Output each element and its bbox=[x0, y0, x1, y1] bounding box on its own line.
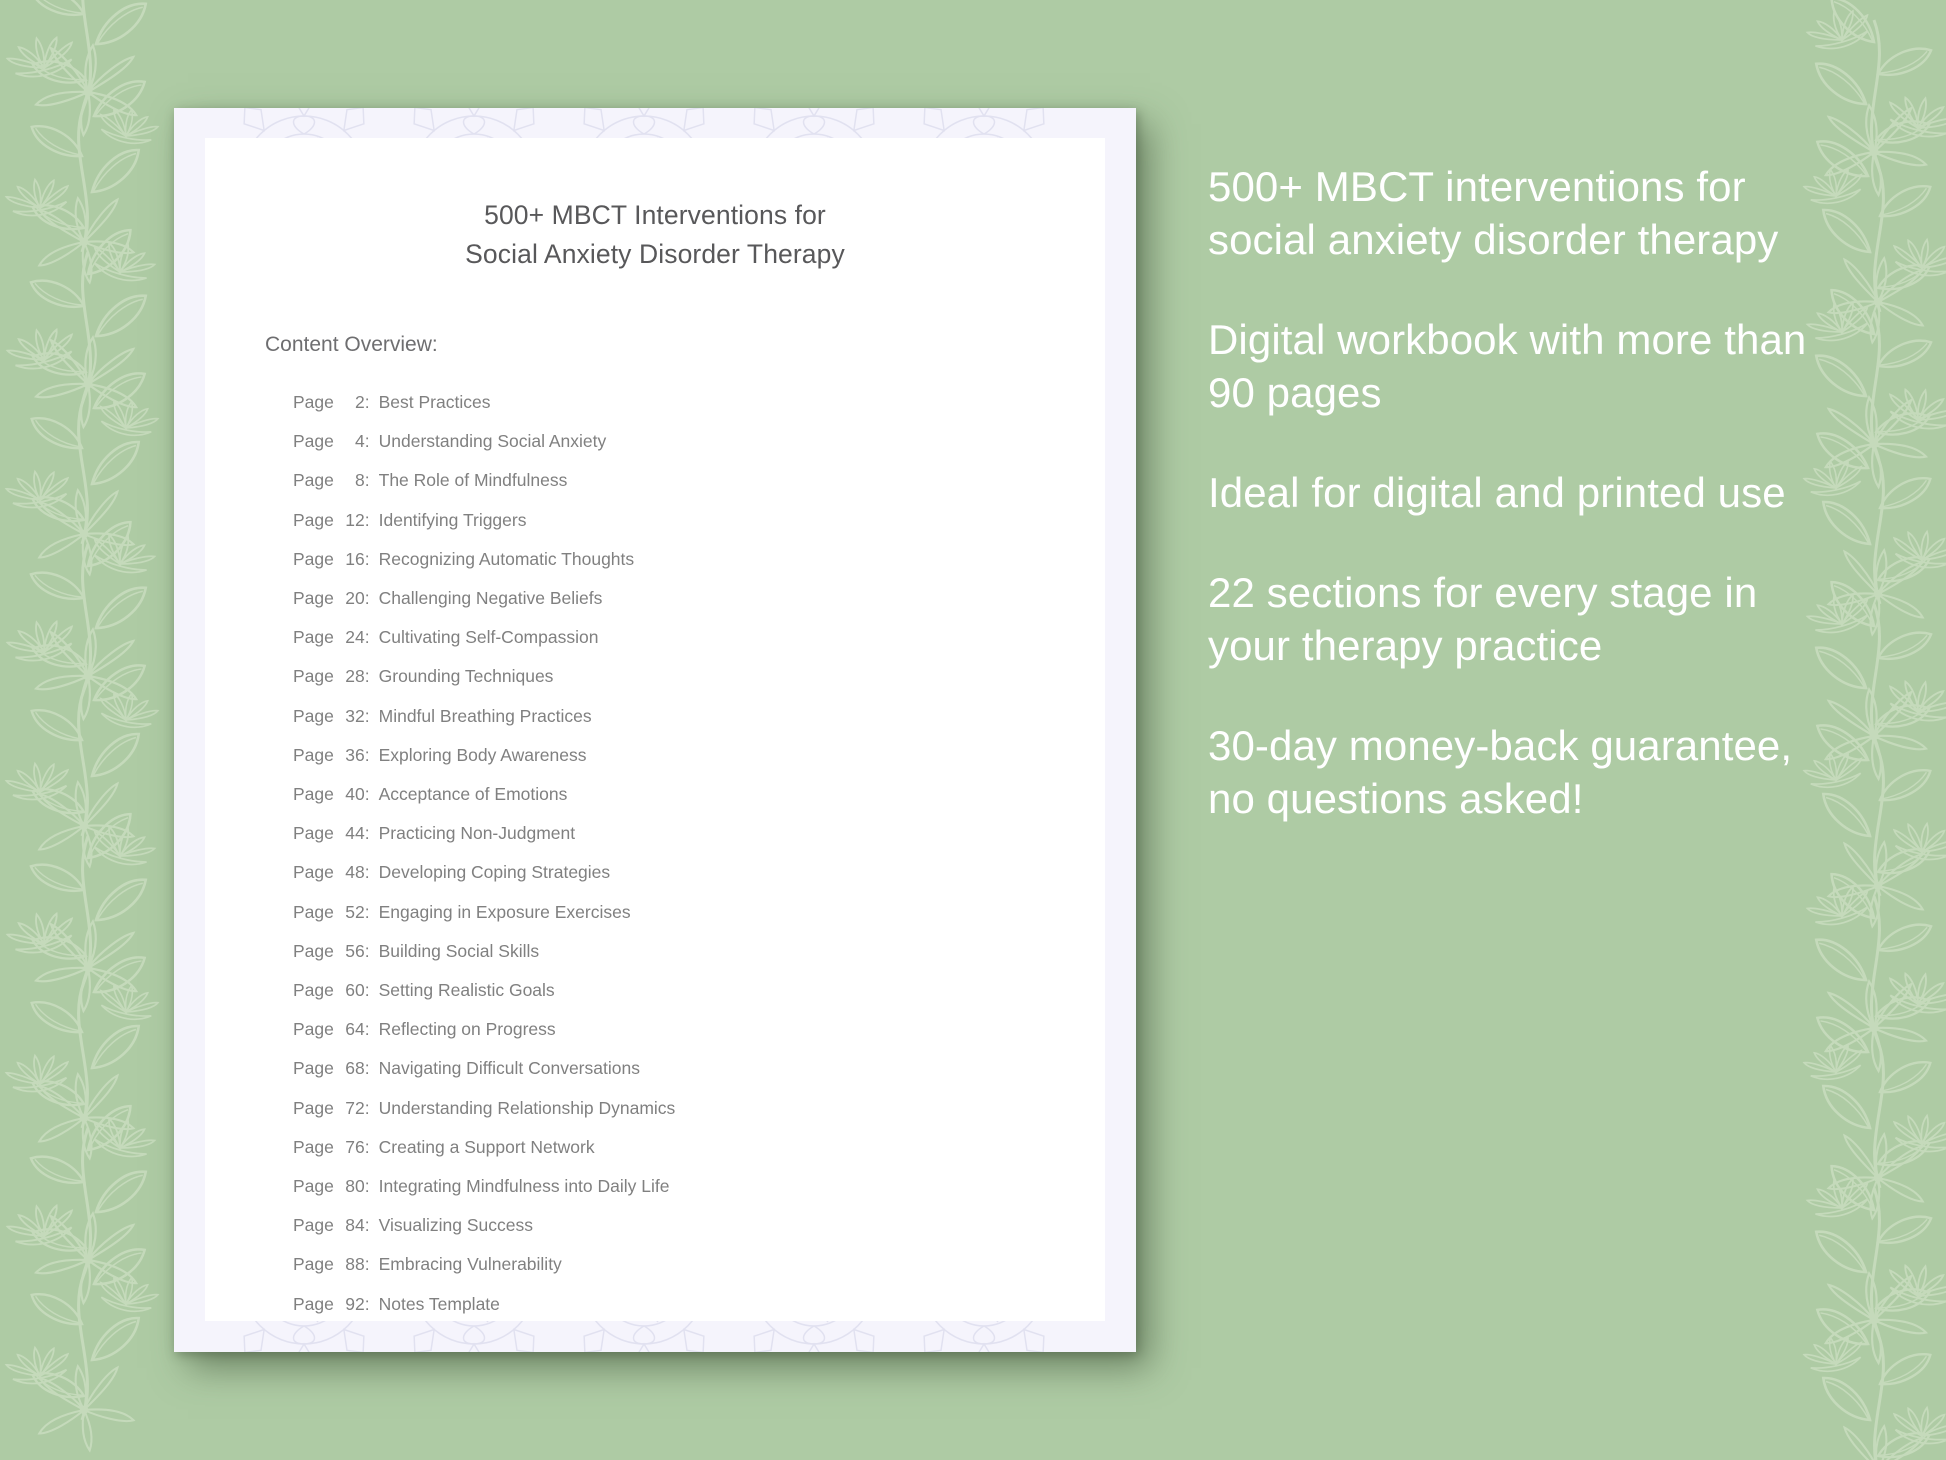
marketing-bullet: Digital workbook with more than 90 pages bbox=[1208, 313, 1808, 419]
table-of-contents: Page 2:Best PracticesPage 4:Understandin… bbox=[293, 383, 1105, 1324]
toc-entry-title: Navigating Difficult Conversations bbox=[370, 1049, 640, 1088]
toc-page-number: 2 bbox=[339, 383, 365, 422]
toc-entry: Page 76:Creating a Support Network bbox=[293, 1128, 1105, 1167]
toc-entry-page: Page 32: bbox=[293, 697, 370, 736]
toc-page-number: 44 bbox=[339, 814, 365, 853]
toc-page-number: 8 bbox=[339, 461, 365, 500]
toc-page-word: Page bbox=[293, 1176, 334, 1196]
toc-entry-title: Recognizing Automatic Thoughts bbox=[370, 540, 635, 579]
toc-page-number: 80 bbox=[339, 1167, 365, 1206]
toc-entry: Page 52:Engaging in Exposure Exercises bbox=[293, 893, 1105, 932]
toc-entry-title: Understanding Social Anxiety bbox=[370, 422, 607, 461]
toc-entry-page: Page 12: bbox=[293, 501, 370, 540]
toc-page-number: 52 bbox=[339, 893, 365, 932]
toc-page-number: 88 bbox=[339, 1245, 365, 1284]
marketing-bullet: 22 sections for every stage in your ther… bbox=[1208, 566, 1808, 672]
toc-page-word: Page bbox=[293, 392, 334, 412]
toc-entry-title: Engaging in Exposure Exercises bbox=[370, 893, 631, 932]
toc-entry: Page 56:Building Social Skills bbox=[293, 932, 1105, 971]
toc-page-number: 64 bbox=[339, 1010, 365, 1049]
toc-page-number: 4 bbox=[339, 422, 365, 461]
toc-page-word: Page bbox=[293, 902, 334, 922]
toc-entry-title: Setting Realistic Goals bbox=[370, 971, 555, 1010]
toc-entry: Page 80:Integrating Mindfulness into Dai… bbox=[293, 1167, 1105, 1206]
toc-page-word: Page bbox=[293, 745, 334, 765]
toc-entry-page: Page 36: bbox=[293, 736, 370, 775]
toc-page-number: 48 bbox=[339, 853, 365, 892]
toc-entry-page: Page 4: bbox=[293, 422, 370, 461]
toc-page-word: Page bbox=[293, 980, 334, 1000]
toc-entry: Page 48:Developing Coping Strategies bbox=[293, 853, 1105, 892]
toc-entry-page: Page 72: bbox=[293, 1089, 370, 1128]
toc-entry: Page 12:Identifying Triggers bbox=[293, 501, 1105, 540]
toc-entry-page: Page 44: bbox=[293, 814, 370, 853]
toc-entry: Page 88:Embracing Vulnerability bbox=[293, 1245, 1105, 1284]
toc-page-word: Page bbox=[293, 510, 334, 530]
toc-page-word: Page bbox=[293, 470, 334, 490]
toc-page-word: Page bbox=[293, 666, 334, 686]
toc-entry-page: Page 84: bbox=[293, 1206, 370, 1245]
toc-page-number: 36 bbox=[339, 736, 365, 775]
workbook-preview-card: 500+ MBCT Interventions for Social Anxie… bbox=[174, 108, 1136, 1352]
marketing-bullet: Ideal for digital and printed use bbox=[1208, 466, 1808, 519]
toc-page-word: Page bbox=[293, 862, 334, 882]
toc-page-number: 92 bbox=[339, 1285, 365, 1324]
toc-entry-page: Page 92: bbox=[293, 1285, 370, 1324]
toc-entry-title: The Role of Mindfulness bbox=[370, 461, 568, 500]
toc-entry-title: Exploring Body Awareness bbox=[370, 736, 587, 775]
toc-page-number: 68 bbox=[339, 1049, 365, 1088]
toc-page-number: 32 bbox=[339, 697, 365, 736]
toc-entry: Page 16:Recognizing Automatic Thoughts bbox=[293, 540, 1105, 579]
toc-entry-title: Reflecting on Progress bbox=[370, 1010, 556, 1049]
toc-page-number: 60 bbox=[339, 971, 365, 1010]
toc-entry-page: Page 56: bbox=[293, 932, 370, 971]
toc-entry-page: Page 64: bbox=[293, 1010, 370, 1049]
toc-page-number: 20 bbox=[339, 579, 365, 618]
toc-entry: Page 40:Acceptance of Emotions bbox=[293, 775, 1105, 814]
toc-entry: Page 84:Visualizing Success bbox=[293, 1206, 1105, 1245]
toc-entry-title: Integrating Mindfulness into Daily Life bbox=[370, 1167, 670, 1206]
toc-entry: Page 64:Reflecting on Progress bbox=[293, 1010, 1105, 1049]
toc-entry-page: Page 20: bbox=[293, 579, 370, 618]
toc-page-word: Page bbox=[293, 1098, 334, 1118]
page-title: 500+ MBCT Interventions for Social Anxie… bbox=[205, 196, 1105, 273]
toc-entry-title: Creating a Support Network bbox=[370, 1128, 595, 1167]
toc-entry: Page 36:Exploring Body Awareness bbox=[293, 736, 1105, 775]
toc-entry: Page 68:Navigating Difficult Conversatio… bbox=[293, 1049, 1105, 1088]
content-overview-label: Content Overview: bbox=[265, 333, 1105, 357]
marketing-bullet: 30-day money-back guarantee, no question… bbox=[1208, 719, 1808, 825]
toc-page-word: Page bbox=[293, 823, 334, 843]
toc-page-word: Page bbox=[293, 1137, 334, 1157]
toc-entry: Page 24:Cultivating Self-Compassion bbox=[293, 618, 1105, 657]
toc-entry-page: Page 8: bbox=[293, 461, 370, 500]
toc-entry-page: Page 48: bbox=[293, 853, 370, 892]
toc-entry: Page 44:Practicing Non-Judgment bbox=[293, 814, 1105, 853]
marketing-bullet: 500+ MBCT interventions for social anxie… bbox=[1208, 160, 1808, 266]
toc-page-word: Page bbox=[293, 1058, 334, 1078]
page-title-line-1: 500+ MBCT Interventions for bbox=[205, 196, 1105, 235]
toc-entry-page: Page 2: bbox=[293, 383, 370, 422]
toc-entry-title: Acceptance of Emotions bbox=[370, 775, 568, 814]
toc-entry-page: Page 80: bbox=[293, 1167, 370, 1206]
toc-page-number: 72 bbox=[339, 1089, 365, 1128]
toc-entry: Page 20:Challenging Negative Beliefs bbox=[293, 579, 1105, 618]
toc-entry-title: Grounding Techniques bbox=[370, 657, 554, 696]
toc-entry-title: Practicing Non-Judgment bbox=[370, 814, 575, 853]
toc-page-number: 40 bbox=[339, 775, 365, 814]
toc-page-number: 12 bbox=[339, 501, 365, 540]
toc-entry-title: Best Practices bbox=[370, 383, 491, 422]
workbook-page: 500+ MBCT Interventions for Social Anxie… bbox=[205, 138, 1105, 1321]
toc-entry-page: Page 40: bbox=[293, 775, 370, 814]
toc-entry-page: Page 88: bbox=[293, 1245, 370, 1284]
toc-page-word: Page bbox=[293, 1215, 334, 1235]
toc-entry: Page 32:Mindful Breathing Practices bbox=[293, 697, 1105, 736]
toc-page-word: Page bbox=[293, 784, 334, 804]
toc-entry: Page 8:The Role of Mindfulness bbox=[293, 461, 1105, 500]
page-title-line-2: Social Anxiety Disorder Therapy bbox=[205, 235, 1105, 274]
toc-entry-page: Page 16: bbox=[293, 540, 370, 579]
toc-page-number: 76 bbox=[339, 1128, 365, 1167]
toc-page-word: Page bbox=[293, 1019, 334, 1039]
toc-page-number: 16 bbox=[339, 540, 365, 579]
toc-entry: Page 60:Setting Realistic Goals bbox=[293, 971, 1105, 1010]
toc-entry-page: Page 52: bbox=[293, 893, 370, 932]
toc-entry-title: Building Social Skills bbox=[370, 932, 540, 971]
toc-entry-page: Page 60: bbox=[293, 971, 370, 1010]
toc-page-word: Page bbox=[293, 588, 334, 608]
toc-page-number: 84 bbox=[339, 1206, 365, 1245]
toc-page-number: 28 bbox=[339, 657, 365, 696]
toc-entry-page: Page 24: bbox=[293, 618, 370, 657]
toc-page-number: 56 bbox=[339, 932, 365, 971]
toc-entry-title: Notes Template bbox=[370, 1285, 500, 1324]
toc-entry-page: Page 76: bbox=[293, 1128, 370, 1167]
toc-entry-title: Understanding Relationship Dynamics bbox=[370, 1089, 676, 1128]
toc-page-word: Page bbox=[293, 431, 334, 451]
toc-page-word: Page bbox=[293, 1254, 334, 1274]
toc-entry-title: Challenging Negative Beliefs bbox=[370, 579, 603, 618]
toc-page-word: Page bbox=[293, 627, 334, 647]
toc-entry-title: Identifying Triggers bbox=[370, 501, 527, 540]
toc-entry: Page 92:Notes Template bbox=[293, 1285, 1105, 1324]
toc-entry: Page 4:Understanding Social Anxiety bbox=[293, 422, 1105, 461]
toc-page-word: Page bbox=[293, 941, 334, 961]
toc-entry-title: Mindful Breathing Practices bbox=[370, 697, 592, 736]
toc-page-word: Page bbox=[293, 1294, 334, 1314]
marketing-bullets: 500+ MBCT interventions for social anxie… bbox=[1208, 160, 1808, 825]
toc-entry: Page 72:Understanding Relationship Dynam… bbox=[293, 1089, 1105, 1128]
toc-entry-title: Embracing Vulnerability bbox=[370, 1245, 562, 1284]
botanical-vine-border-left-icon bbox=[0, 0, 202, 1460]
toc-entry-title: Visualizing Success bbox=[370, 1206, 533, 1245]
toc-entry-page: Page 28: bbox=[293, 657, 370, 696]
toc-entry-title: Developing Coping Strategies bbox=[370, 853, 611, 892]
poster-canvas: 500+ MBCT Interventions for Social Anxie… bbox=[0, 0, 1946, 1460]
toc-page-word: Page bbox=[293, 706, 334, 726]
toc-entry-page: Page 68: bbox=[293, 1049, 370, 1088]
toc-page-word: Page bbox=[293, 549, 334, 569]
toc-entry: Page 2:Best Practices bbox=[293, 383, 1105, 422]
toc-entry: Page 28:Grounding Techniques bbox=[293, 657, 1105, 696]
toc-entry-title: Cultivating Self-Compassion bbox=[370, 618, 599, 657]
toc-page-number: 24 bbox=[339, 618, 365, 657]
